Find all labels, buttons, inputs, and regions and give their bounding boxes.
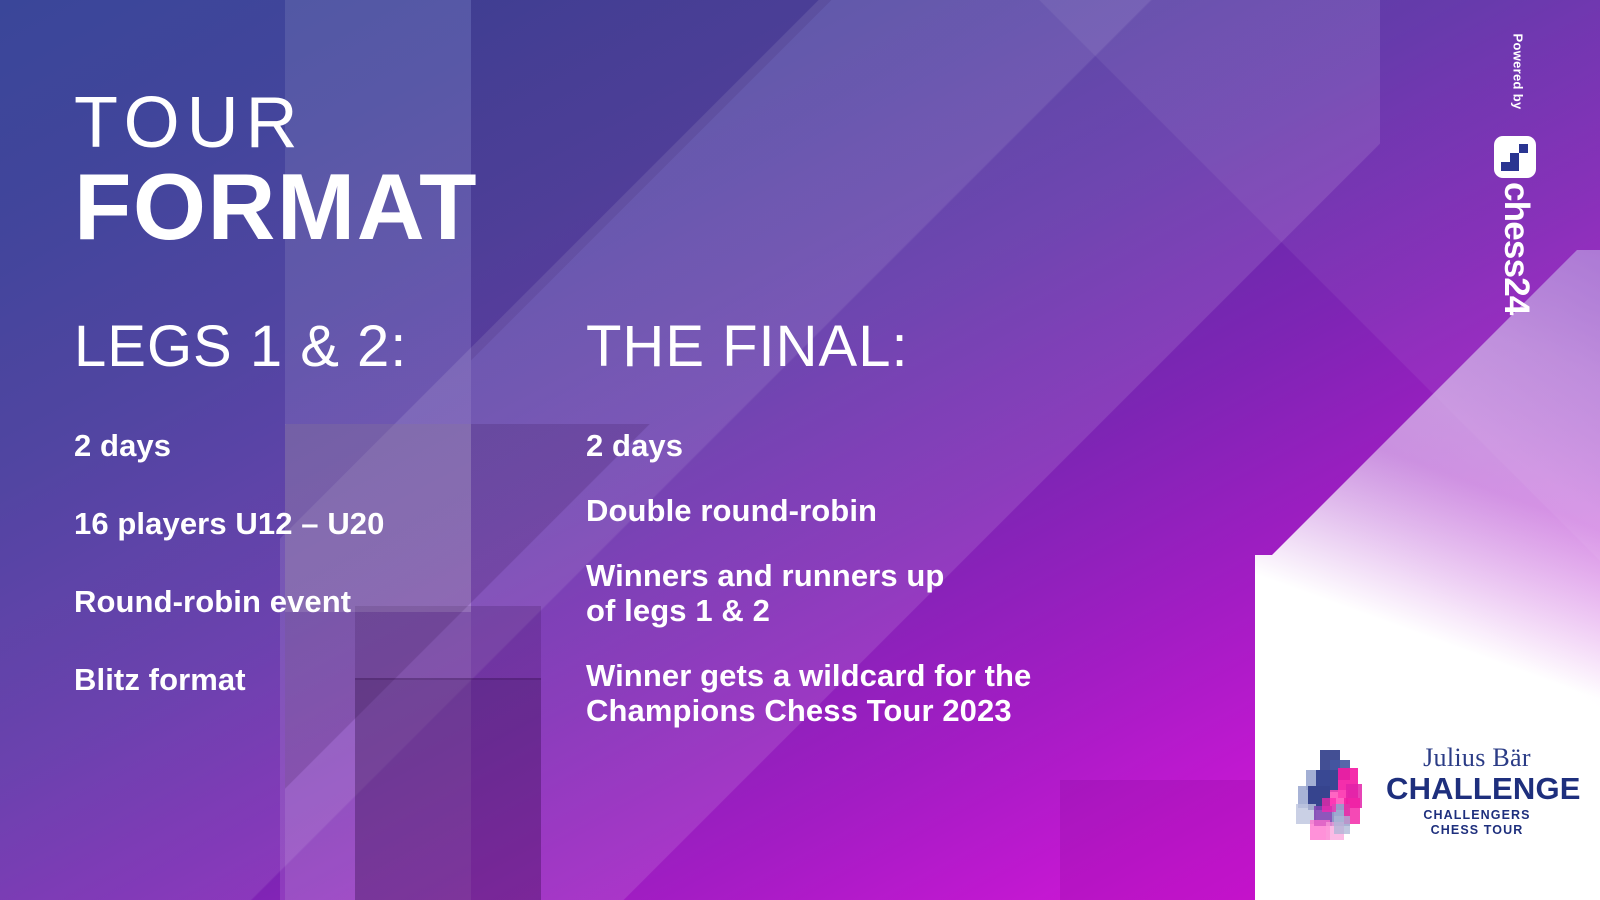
- chess24-logo-icon: [1494, 136, 1536, 178]
- chess24-branding: Powered by chess24: [1487, 22, 1543, 302]
- column-final: THE FINAL: 2 days Double round-robin Win…: [586, 318, 1206, 758]
- list-item: Winners and runners up of legs 1 & 2: [586, 558, 1206, 628]
- knight-mark-icon: [1278, 742, 1382, 846]
- list-item: Double round-robin: [586, 493, 1206, 528]
- chess24-pixel-2: [1510, 153, 1519, 162]
- knight-mark-svg: [1278, 742, 1382, 846]
- list-item: Round-robin event: [74, 584, 564, 619]
- column-legs: LEGS 1 & 2: 2 days 16 players U12 – U20 …: [74, 318, 564, 740]
- list-item: 16 players U12 – U20: [74, 506, 564, 541]
- column-legs-heading: LEGS 1 & 2:: [74, 318, 564, 376]
- column-legs-list: 2 days 16 players U12 – U20 Round-robin …: [74, 428, 564, 697]
- list-item: Winner gets a wildcard for the Champions…: [586, 658, 1206, 728]
- julius-baer-subtitle-1: CHALLENGERS: [1386, 808, 1568, 823]
- chess24-wordmark: chess24: [1496, 182, 1536, 312]
- list-item: Blitz format: [74, 662, 564, 697]
- list-item: 2 days: [74, 428, 564, 463]
- chess24-pixel-4: [1501, 162, 1510, 171]
- page-title-line-1: TOUR: [74, 88, 478, 159]
- julius-baer-title: CHALLENGE: [1386, 773, 1568, 804]
- page-title-line-2: FORMAT: [74, 161, 478, 253]
- julius-baer-subtitle-2: CHESS TOUR: [1386, 823, 1568, 838]
- julius-baer-brand: Julius Bär: [1386, 744, 1568, 772]
- chess24-powered-by-label: Powered by: [1511, 17, 1526, 127]
- column-final-list: 2 days Double round-robin Winners and ru…: [586, 428, 1206, 728]
- chess24-pixel-1: [1519, 144, 1528, 153]
- column-final-heading: THE FINAL:: [586, 318, 1206, 376]
- chess24-pixel-3: [1510, 162, 1519, 171]
- julius-baer-challenge-logo: Julius Bär CHALLENGE CHALLENGERS CHESS T…: [1278, 738, 1568, 846]
- background-square-right: [1060, 780, 1260, 900]
- tour-format-slide: TOUR FORMAT LEGS 1 & 2: 2 days 16 player…: [0, 0, 1600, 900]
- julius-baer-text-block: Julius Bär CHALLENGE CHALLENGERS CHESS T…: [1386, 744, 1568, 839]
- list-item: 2 days: [586, 428, 1206, 463]
- page-title: TOUR FORMAT: [74, 88, 478, 253]
